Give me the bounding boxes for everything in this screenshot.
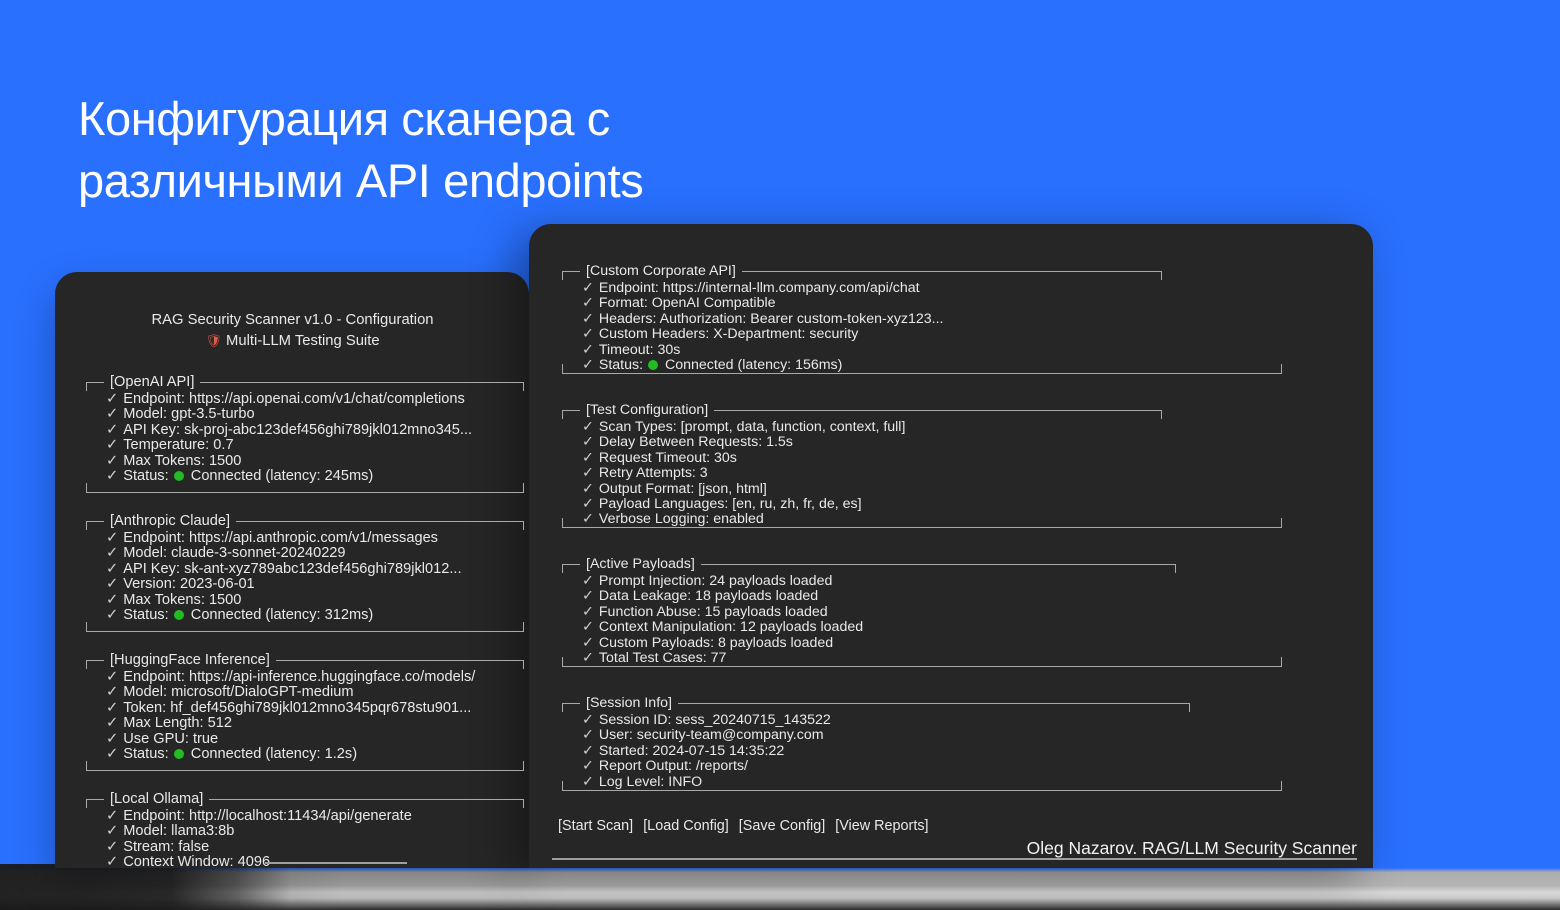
check-icon: ✓ [582, 511, 594, 527]
group-legend: [Custom Corporate API] [580, 263, 742, 279]
check-icon: ✓ [582, 774, 594, 790]
config-row-text: Temperature: 0.7 [123, 437, 233, 453]
config-row: ✓Delay Between Requests: 1.5s [582, 435, 905, 450]
status-dot-icon [648, 360, 658, 370]
config-row: ✓Use GPU: true [106, 732, 475, 747]
config-row: ✓Scan Types: [prompt, data, function, co… [582, 420, 905, 435]
config-row: ✓Context Manipulation: 12 payloads loade… [582, 620, 863, 635]
config-row-text: Retry Attempts: 3 [599, 465, 708, 481]
check-icon: ✓ [106, 669, 118, 685]
config-row: ✓Token: hf_def456ghi789jkl012mno345pqr67… [106, 701, 475, 716]
check-icon: ✓ [106, 406, 118, 422]
group-corner-tick-bottom-right [1281, 518, 1282, 528]
check-icon: ✓ [582, 712, 594, 728]
group-corner-tick-bottom-left [86, 483, 87, 493]
group-corner-tick-bottom-right [523, 761, 524, 771]
scanner-title-line2-wrap: 🛡 Multi-LLM Testing Suite [60, 331, 525, 352]
config-row-text: Prompt Injection: 24 payloads loaded [599, 573, 832, 589]
group-legend: [Active Payloads] [580, 556, 701, 572]
scanner-subtitle: Multi-LLM Testing Suite [226, 333, 380, 349]
group-border-bottom [86, 770, 524, 771]
config-row: ✓Stream: false [106, 840, 412, 855]
group-legend: [Anthropic Claude] [104, 513, 236, 529]
page-title: Конфигурация сканера с различными API en… [78, 88, 858, 212]
group-rows: ✓Endpoint: https://internal-llm.company.… [582, 281, 944, 373]
config-row: ✓Headers: Authorization: Bearer custom-t… [582, 312, 944, 327]
config-row-text: API Key: sk-proj-abc123def456ghi789jkl01… [123, 422, 472, 438]
config-row: ✓Output Format: [json, html] [582, 482, 905, 497]
status-row: ✓Status: Connected (latency: 156ms) [582, 358, 944, 373]
group-legend: [HuggingFace Inference] [104, 652, 276, 668]
config-row: ✓Max Tokens: 1500 [106, 593, 462, 608]
config-row-text: User: security-team@company.com [599, 727, 824, 743]
config-row: ✓Session ID: sess_20240715_143522 [582, 713, 831, 728]
check-icon: ✓ [582, 357, 594, 373]
config-row-text: Headers: Authorization: Bearer custom-to… [599, 311, 944, 327]
config-row-text: Delay Between Requests: 1.5s [599, 434, 793, 450]
config-row-text: Timeout: 30s [599, 342, 680, 358]
config-row: ✓Model: llama3:8b [106, 824, 412, 839]
check-icon: ✓ [106, 607, 118, 623]
footer-divider [552, 858, 1357, 860]
status-value: Connected (latency: 1.2s) [187, 746, 357, 762]
group-corner-tick-right [523, 521, 524, 530]
config-row-text: Function Abuse: 15 payloads loaded [599, 604, 828, 620]
group-corner-tick-left [562, 564, 563, 573]
config-row-text: Max Tokens: 1500 [123, 592, 241, 608]
check-icon: ✓ [106, 530, 118, 546]
group-border-bottom [562, 790, 1282, 791]
check-icon: ✓ [582, 450, 594, 466]
config-row-text: Model: claude-3-sonnet-20240229 [123, 545, 345, 561]
config-row-text: Endpoint: https://internal-llm.company.c… [599, 280, 920, 296]
group-corner-tick-bottom-right [1281, 657, 1282, 667]
group-corner-tick-right [523, 799, 524, 808]
group-corner-tick-right [1189, 703, 1190, 712]
group-border-bottom [562, 527, 1282, 528]
status-label: Status: [599, 357, 647, 373]
left-window-header: RAG Security Scanner v1.0 - Configuratio… [60, 311, 525, 351]
check-icon: ✓ [582, 635, 594, 651]
footer-action-1[interactable]: [Load Config] [643, 818, 729, 834]
check-icon: ✓ [106, 422, 118, 438]
config-row-text: Endpoint: http://localhost:11434/api/gen… [123, 808, 412, 824]
config-row: ✓Endpoint: https://api.openai.com/v1/cha… [106, 392, 472, 407]
group-border-bottom [86, 492, 524, 493]
context-window-trailing-rule [265, 862, 407, 864]
config-row-text: Endpoint: https://api-inference.huggingf… [123, 669, 475, 685]
config-row: ✓Model: gpt-3.5-turbo [106, 407, 472, 422]
group-corner-tick-left [86, 660, 87, 669]
config-row: ✓Version: 2023-06-01 [106, 577, 462, 592]
group-corner-tick-bottom-left [562, 518, 563, 528]
check-icon: ✓ [106, 715, 118, 731]
check-icon: ✓ [106, 684, 118, 700]
config-row: ✓Report Output: /reports/ [582, 759, 831, 774]
group-rows: ✓Endpoint: https://api.openai.com/v1/cha… [106, 392, 472, 484]
group-corner-tick-left [86, 799, 87, 808]
config-row-text: Version: 2023-06-01 [123, 576, 254, 592]
status-label: Status: [123, 468, 172, 484]
group-corner-tick-bottom-right [523, 622, 524, 632]
group-corner-tick-right [1175, 564, 1176, 573]
check-icon: ✓ [106, 592, 118, 608]
group-corner-tick-right [523, 382, 524, 391]
config-row-text: Endpoint: https://api.openai.com/v1/chat… [123, 391, 465, 407]
group-border-bottom [562, 373, 1282, 374]
status-row: ✓Status: Connected (latency: 245ms) [106, 469, 472, 484]
config-row-text: Use GPU: true [123, 731, 218, 747]
config-row-text: Scan Types: [prompt, data, function, con… [599, 419, 906, 435]
status-dot-icon [174, 749, 184, 759]
footer-action-2[interactable]: [Save Config] [739, 818, 825, 834]
config-row-text: Endpoint: https://api.anthropic.com/v1/m… [123, 530, 438, 546]
config-row: ✓Custom Headers: X-Department: security [582, 327, 944, 342]
check-icon: ✓ [582, 604, 594, 620]
group-corner-tick-right [1161, 410, 1162, 419]
status-value: Connected (latency: 156ms) [661, 357, 842, 373]
status-value: Connected (latency: 312ms) [187, 607, 374, 623]
config-row-text: API Key: sk-ant-xyz789abc123def456ghi789… [123, 561, 461, 577]
config-row: ✓Retry Attempts: 3 [582, 466, 905, 481]
status-label: Status: [123, 607, 172, 623]
group-legend: [Session Info] [580, 695, 678, 711]
config-row: ✓Function Abuse: 15 payloads loaded [582, 605, 863, 620]
config-row-text: Context Manipulation: 12 payloads loaded [599, 619, 863, 635]
group-legend: [Test Configuration] [580, 402, 714, 418]
status-row: ✓Status: Connected (latency: 1.2s) [106, 747, 475, 762]
config-row: ✓Endpoint: https://internal-llm.company.… [582, 281, 944, 296]
group-border-bottom [86, 631, 524, 632]
check-icon: ✓ [582, 727, 594, 743]
check-icon: ✓ [106, 545, 118, 561]
config-row: ✓Request Timeout: 30s [582, 451, 905, 466]
check-icon: ✓ [582, 743, 594, 759]
group-legend: [OpenAI API] [104, 374, 200, 390]
check-icon: ✓ [106, 731, 118, 747]
group-corner-tick-bottom-right [1281, 781, 1282, 791]
scanner-title-line1: RAG Security Scanner v1.0 - Configuratio… [60, 311, 525, 331]
group-corner-tick-bottom-right [1281, 364, 1282, 374]
check-icon: ✓ [582, 280, 594, 296]
check-icon: ✓ [106, 391, 118, 407]
config-row-text: Context Window: 4096 [123, 854, 270, 870]
group-corner-tick-left [86, 521, 87, 530]
group-rows: ✓Prompt Injection: 24 payloads loaded✓Da… [582, 574, 863, 666]
config-row: ✓Custom Payloads: 8 payloads loaded [582, 636, 863, 651]
group-corner-tick-bottom-left [562, 781, 563, 791]
group-corner-tick-bottom-left [86, 761, 87, 771]
status-dot-icon [174, 610, 184, 620]
config-row: ✓Endpoint: http://localhost:11434/api/ge… [106, 809, 412, 824]
group-corner-tick-bottom-right [523, 483, 524, 493]
config-row: ✓Model: claude-3-sonnet-20240229 [106, 546, 462, 561]
check-icon: ✓ [106, 468, 118, 484]
config-row: ✓Total Test Cases: 77 [582, 651, 863, 666]
config-row: ✓User: security-team@company.com [582, 728, 831, 743]
config-row-text: Total Test Cases: 77 [599, 650, 727, 666]
group-corner-tick-bottom-left [86, 622, 87, 632]
group-legend: [Local Ollama] [104, 791, 209, 807]
check-icon: ✓ [582, 650, 594, 666]
check-icon: ✓ [106, 854, 118, 870]
check-icon: ✓ [582, 758, 594, 774]
check-icon: ✓ [106, 839, 118, 855]
config-row-text: Output Format: [json, html] [599, 481, 767, 497]
check-icon: ✓ [582, 326, 594, 342]
config-row-text: Model: microsoft/DialoGPT-medium [123, 684, 353, 700]
check-icon: ✓ [582, 419, 594, 435]
config-row-text: Log Level: INFO [599, 774, 702, 790]
config-row: ✓Log Level: INFO [582, 775, 831, 790]
config-row-text: Data Leakage: 18 payloads loaded [599, 588, 818, 604]
footer-credit: Oleg Nazarov. RAG/LLM Security Scanner [700, 838, 1357, 859]
config-row-text: Payload Languages: [en, ru, zh, fr, de, … [599, 496, 862, 512]
check-icon: ✓ [106, 453, 118, 469]
config-row: ✓API Key: sk-ant-xyz789abc123def456ghi78… [106, 562, 462, 577]
config-row: ✓API Key: sk-proj-abc123def456ghi789jkl0… [106, 423, 472, 438]
group-corner-tick-left [86, 382, 87, 391]
group-rows: ✓Endpoint: https://api-inference.hugging… [106, 670, 475, 762]
config-row-text: Custom Headers: X-Department: security [599, 326, 858, 342]
config-row-text: Token: hf_def456ghi789jkl012mno345pqr678… [123, 700, 471, 716]
check-icon: ✓ [106, 561, 118, 577]
config-row: ✓Endpoint: https://api.anthropic.com/v1/… [106, 531, 462, 546]
group-border-bottom [562, 666, 1282, 667]
status-dot-icon [174, 471, 184, 481]
config-row: ✓Format: OpenAI Compatible [582, 296, 944, 311]
check-icon: ✓ [106, 808, 118, 824]
check-icon: ✓ [582, 619, 594, 635]
config-row-text: Verbose Logging: enabled [599, 511, 764, 527]
group-rows: ✓Endpoint: https://api.anthropic.com/v1/… [106, 531, 462, 623]
config-row-text: Session ID: sess_20240715_143522 [599, 712, 831, 728]
group-rows: ✓Session ID: sess_20240715_143522✓User: … [582, 713, 831, 790]
config-row-text: Max Tokens: 1500 [123, 453, 241, 469]
config-row-text: Format: OpenAI Compatible [599, 295, 776, 311]
check-icon: ✓ [582, 295, 594, 311]
footer-action-bar: [Start Scan][Load Config][Save Config][V… [558, 818, 939, 834]
config-row-text: Request Timeout: 30s [599, 450, 737, 466]
group-corner-tick-left [562, 271, 563, 280]
footer-action-3[interactable]: [View Reports] [835, 818, 928, 834]
status-value: Connected (latency: 245ms) [187, 468, 374, 484]
check-icon: ✓ [582, 481, 594, 497]
check-icon: ✓ [106, 437, 118, 453]
config-row: ✓Max Length: 512 [106, 716, 475, 731]
status-label: Status: [123, 746, 172, 762]
group-corner-tick-left [562, 410, 563, 419]
config-row-text: Max Length: 512 [123, 715, 232, 731]
check-icon: ✓ [582, 465, 594, 481]
group-corner-tick-left [562, 703, 563, 712]
group-corner-tick-right [523, 660, 524, 669]
config-row: ✓Verbose Logging: enabled [582, 512, 905, 527]
config-row: ✓Max Tokens: 1500 [106, 454, 472, 469]
laptop-base-shadow [0, 864, 660, 910]
check-icon: ✓ [582, 588, 594, 604]
group-rows: ✓Scan Types: [prompt, data, function, co… [582, 420, 905, 528]
config-row: ✓Data Leakage: 18 payloads loaded [582, 589, 863, 604]
config-row: ✓Prompt Injection: 24 payloads loaded [582, 574, 863, 589]
group-corner-tick-bottom-left [562, 364, 563, 374]
check-icon: ✓ [106, 823, 118, 839]
check-icon: ✓ [106, 746, 118, 762]
config-row-text: Model: llama3:8b [123, 823, 234, 839]
check-icon: ✓ [582, 573, 594, 589]
config-row: ✓Temperature: 0.7 [106, 438, 472, 453]
check-icon: ✓ [582, 342, 594, 358]
check-icon: ✓ [106, 700, 118, 716]
group-corner-tick-right [1161, 271, 1162, 280]
config-row-text: Stream: false [123, 839, 209, 855]
config-row-text: Model: gpt-3.5-turbo [123, 406, 254, 422]
shield-icon: 🛡 [205, 333, 222, 348]
check-icon: ✓ [582, 311, 594, 327]
config-row: ✓Endpoint: https://api-inference.hugging… [106, 670, 475, 685]
check-icon: ✓ [106, 576, 118, 592]
status-row: ✓Status: Connected (latency: 312ms) [106, 608, 462, 623]
config-row-text: Report Output: /reports/ [599, 758, 748, 774]
config-row-text: Custom Payloads: 8 payloads loaded [599, 635, 833, 651]
group-corner-tick-bottom-left [562, 657, 563, 667]
config-row: ✓Timeout: 30s [582, 343, 944, 358]
config-row-text: Started: 2024-07-15 14:35:22 [599, 743, 784, 759]
footer-action-0[interactable]: [Start Scan] [558, 818, 633, 834]
check-icon: ✓ [582, 496, 594, 512]
config-row: ✓Model: microsoft/DialoGPT-medium [106, 685, 475, 700]
config-row: ✓Payload Languages: [en, ru, zh, fr, de,… [582, 497, 905, 512]
check-icon: ✓ [582, 434, 594, 450]
config-row: ✓Started: 2024-07-15 14:35:22 [582, 744, 831, 759]
